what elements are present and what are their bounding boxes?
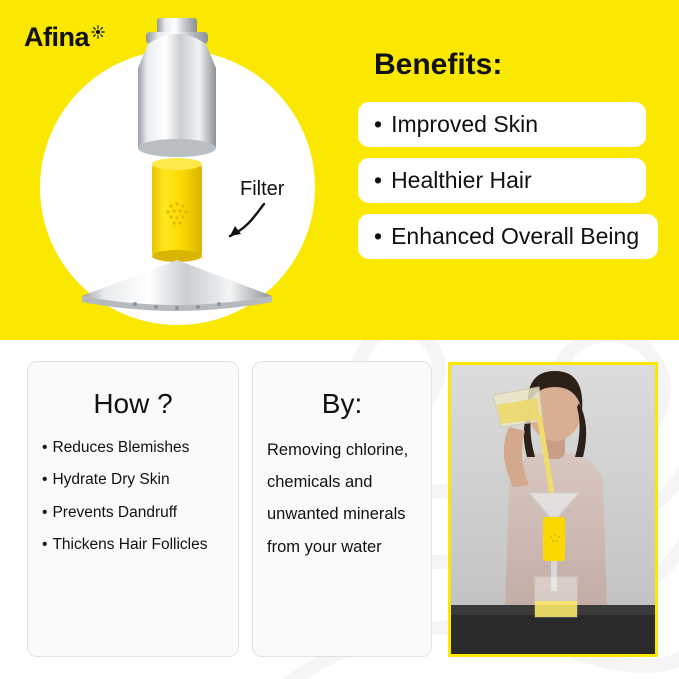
list-item-label: Prevents Dandruff [52, 503, 177, 522]
benefit-label: Enhanced Overall Being [391, 223, 639, 249]
list-item: • Prevents Dandruff [42, 503, 228, 522]
list-item: • Thickens Hair Follicles [42, 535, 228, 554]
how-card: How ? • Reduces Blemishes • Hydrate Dry … [27, 361, 239, 657]
bullet-icon: • [42, 438, 47, 457]
benefit-label: Healthier Hair [391, 167, 532, 193]
list-item: • Hydrate Dry Skin [42, 470, 228, 489]
by-card: By: Removing chlorine, chemicals and unw… [252, 361, 432, 657]
lifestyle-photo [448, 362, 658, 657]
benefit-item: • Healthier Hair [358, 158, 646, 203]
filter-callout-label: Filter [240, 178, 284, 201]
bullet-icon: • [374, 167, 382, 193]
product-infographic: Afina [0, 0, 679, 679]
benefits-title: Benefits: [374, 48, 502, 82]
curved-arrow-icon [210, 198, 270, 248]
list-item-label: Hydrate Dry Skin [52, 470, 169, 489]
list-item-label: Thickens Hair Follicles [52, 535, 207, 554]
list-item: • Reduces Blemishes [42, 438, 228, 457]
bullet-icon: • [42, 535, 47, 554]
bullet-icon: • [42, 470, 47, 489]
by-card-title: By: [253, 388, 431, 420]
how-card-list: • Reduces Blemishes • Hydrate Dry Skin •… [28, 438, 238, 555]
bullet-icon: • [42, 503, 47, 522]
benefit-label: Improved Skin [391, 111, 538, 137]
benefit-item: • Enhanced Overall Being [358, 214, 658, 259]
bottom-white-panel: How ? • Reduces Blemishes • Hydrate Dry … [0, 340, 679, 679]
benefit-item: • Improved Skin [358, 102, 646, 147]
by-card-text: Removing chlorine, chemicals and unwante… [253, 434, 431, 563]
how-card-title: How ? [28, 388, 238, 420]
bullet-icon: • [374, 223, 382, 249]
top-yellow-panel: Afina [0, 0, 679, 340]
shower-head-with-filter-illustration [40, 8, 315, 318]
bullet-icon: • [374, 111, 382, 137]
list-item-label: Reduces Blemishes [52, 438, 189, 457]
